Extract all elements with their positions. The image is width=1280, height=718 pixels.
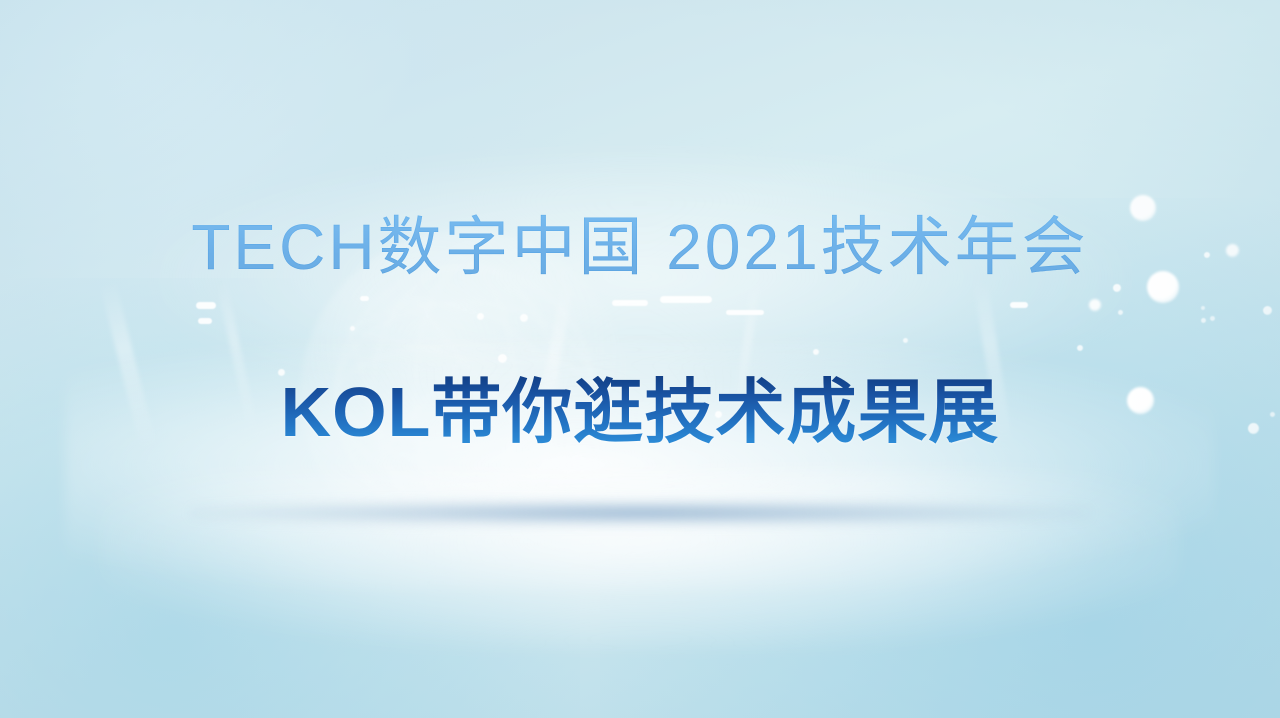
horizontal-shadow-line [190, 500, 1090, 526]
spark-particle [198, 318, 212, 324]
title-card-stage: TECH数字中国 2021技术年会 KOL带你逛技术成果展 [0, 0, 1280, 718]
bokeh-particle [1113, 284, 1121, 292]
glow-lower [100, 470, 1180, 650]
bokeh-particle [1077, 345, 1083, 351]
spark-particle [726, 310, 764, 315]
bokeh-particle [1263, 306, 1272, 315]
page-title: TECH数字中国 2021技术年会 [191, 214, 1088, 281]
glow-center [65, 340, 1215, 590]
light-streak [534, 280, 574, 440]
background-wash-top-left [0, 0, 580, 440]
light-streak [100, 281, 157, 450]
background-wash-bottom-right [600, 198, 1280, 718]
spark-particle [1010, 302, 1028, 308]
title-block: TECH数字中国 2021技术年会 [0, 214, 1280, 281]
glow-upper [150, 150, 1130, 380]
page-subtitle: KOL带你逛技术成果展 [281, 376, 1000, 450]
bokeh-particle [1226, 244, 1239, 257]
bokeh-particle [1201, 306, 1205, 310]
bokeh-particle [1118, 310, 1123, 315]
light-streak [732, 280, 760, 420]
bokeh-particle [1248, 423, 1259, 434]
bokeh-particle [520, 314, 528, 322]
spark-particle [660, 296, 712, 303]
bokeh-particle [278, 369, 285, 376]
background-wash-bottom-left [0, 278, 580, 718]
vignette-overlay [0, 0, 1280, 718]
bokeh-particle [1089, 299, 1101, 311]
bokeh-particle [903, 338, 908, 343]
bokeh-particle [348, 428, 353, 433]
spark-particle [196, 302, 216, 309]
bokeh-particle [715, 411, 722, 418]
bokeh-particle [1201, 318, 1206, 323]
bokeh-particle [1270, 412, 1275, 417]
bokeh-particle [1130, 195, 1156, 221]
bokeh-particle [813, 349, 819, 355]
bokeh-particle [1210, 316, 1215, 321]
bokeh-particle [498, 354, 507, 363]
bokeh-particle [1204, 252, 1210, 258]
spark-particle [612, 300, 648, 306]
light-streak [217, 281, 258, 430]
light-streaks [0, 270, 1280, 470]
bokeh-particle [1147, 271, 1179, 303]
wireframe-globe-icon [300, 230, 630, 560]
subtitle-block: KOL带你逛技术成果展 [0, 376, 1280, 450]
spark-particle [360, 296, 369, 301]
bokeh-particle [477, 313, 484, 320]
light-streak [973, 280, 1013, 445]
bokeh-particle [350, 326, 355, 331]
bokeh-particle [1127, 387, 1154, 414]
